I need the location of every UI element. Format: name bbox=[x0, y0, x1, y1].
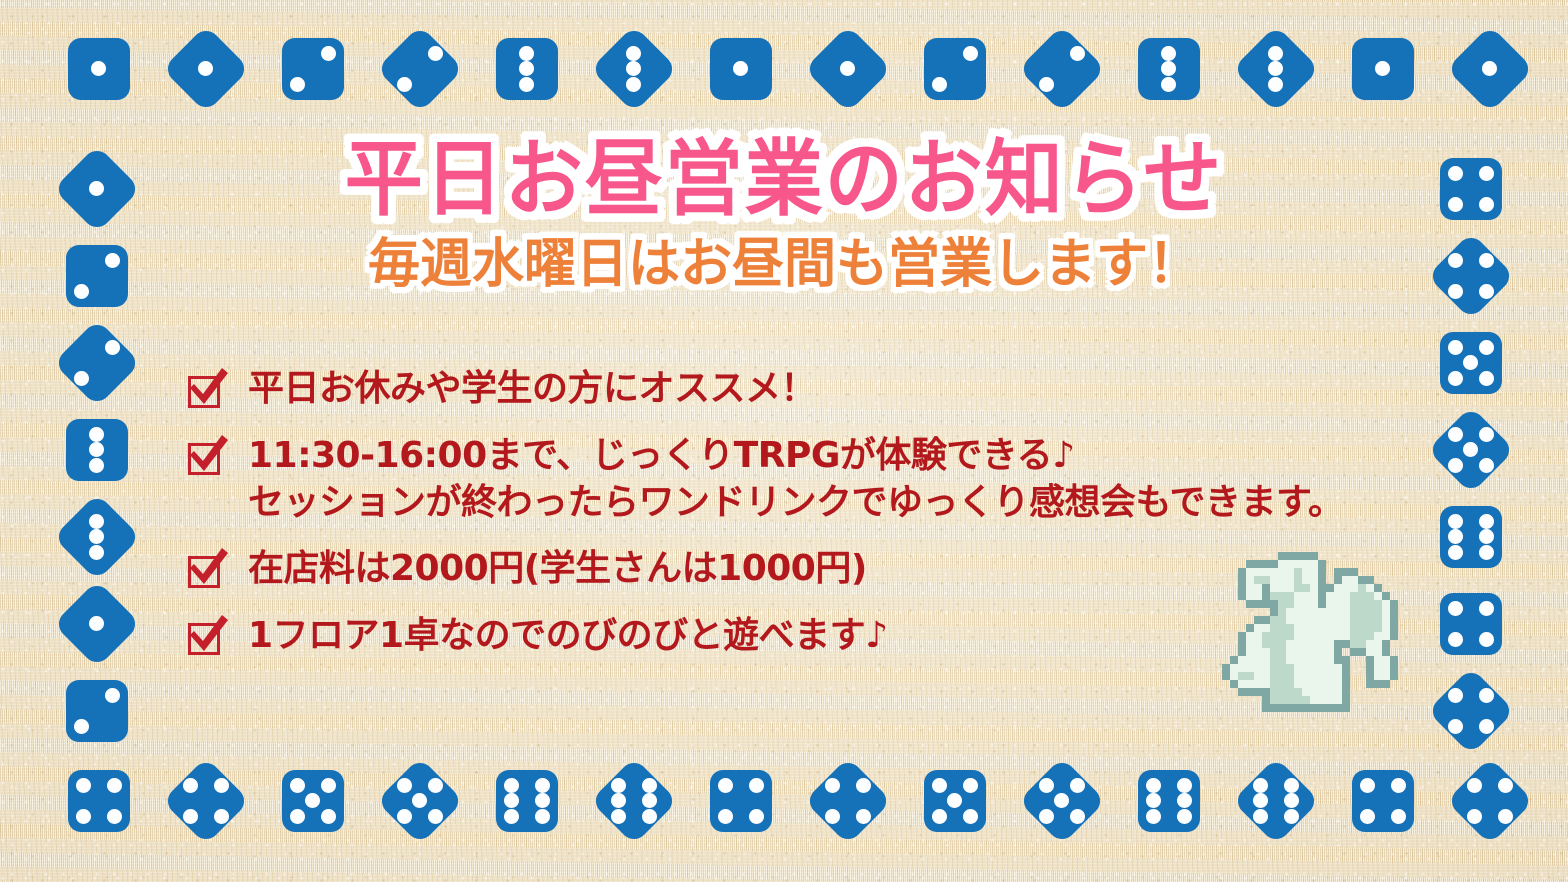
die-4-diamond-icon bbox=[1446, 757, 1534, 845]
die-6-diamond-icon bbox=[590, 757, 678, 845]
die-pips bbox=[710, 38, 772, 100]
die-pips bbox=[66, 419, 128, 481]
die-pips bbox=[817, 770, 879, 832]
checkbox-checked-icon bbox=[186, 439, 228, 479]
die-pip bbox=[825, 809, 840, 824]
die-pips bbox=[389, 38, 451, 100]
die-pips bbox=[603, 38, 665, 100]
die-pips bbox=[282, 38, 344, 100]
die-pip bbox=[535, 809, 550, 824]
die-pip bbox=[932, 809, 947, 824]
die-pips bbox=[1138, 770, 1200, 832]
die-pip bbox=[1448, 340, 1463, 355]
die-pip bbox=[519, 77, 534, 92]
die-pip bbox=[89, 458, 104, 473]
die-pip bbox=[1479, 545, 1494, 560]
die-pips bbox=[1245, 770, 1307, 832]
die-pip bbox=[91, 61, 106, 76]
die-5-diamond-icon bbox=[1018, 757, 1106, 845]
die-3-diamond-icon bbox=[1232, 25, 1320, 113]
die-pips bbox=[1440, 332, 1502, 394]
die-5-square-icon bbox=[282, 770, 344, 832]
die-pip bbox=[749, 778, 764, 793]
die-pips bbox=[66, 245, 128, 307]
die-1-diamond-icon bbox=[53, 145, 141, 233]
die-pip bbox=[89, 616, 104, 631]
die-pip bbox=[1463, 355, 1478, 370]
bullet-line-1: 1フロア1卓なのでのびのびと遊べます♪ bbox=[248, 615, 888, 656]
die-pip bbox=[1448, 545, 1463, 560]
die-1-diamond-icon bbox=[804, 25, 892, 113]
die-pip bbox=[1391, 809, 1406, 824]
check-mark-icon bbox=[184, 366, 232, 414]
die-pip bbox=[428, 46, 443, 61]
die-pip bbox=[1479, 284, 1494, 299]
die-pip bbox=[74, 284, 89, 299]
die-pips bbox=[603, 770, 665, 832]
die-1-diamond-icon bbox=[53, 580, 141, 668]
die-2-diamond-icon bbox=[376, 25, 464, 113]
die-5-square-icon bbox=[1440, 332, 1502, 394]
die-pip bbox=[1479, 166, 1494, 181]
die-pip bbox=[1161, 77, 1176, 92]
bullet-line-2: セッションが終わったらワンドリンクでゆっくり感想会もできます。 bbox=[248, 480, 1343, 527]
die-pip bbox=[626, 77, 641, 92]
die-pip bbox=[1448, 253, 1463, 268]
die-pips bbox=[282, 770, 344, 832]
bullet-line-1: 11:30-16:00まで、じっくりTRPGが体験できる♪ bbox=[248, 435, 1075, 476]
die-pip bbox=[1054, 793, 1069, 808]
die-pip bbox=[504, 793, 519, 808]
die-pip bbox=[1467, 809, 1482, 824]
die-pip bbox=[1284, 809, 1299, 824]
die-pip bbox=[1479, 197, 1494, 212]
die-2-square-icon bbox=[924, 38, 986, 100]
die-4-diamond-icon bbox=[804, 757, 892, 845]
die-pip bbox=[183, 778, 198, 793]
die-pip bbox=[1479, 514, 1494, 529]
die-pip bbox=[89, 442, 104, 457]
die-2-square-icon bbox=[66, 680, 128, 742]
die-pip bbox=[963, 778, 978, 793]
die-pip bbox=[856, 809, 871, 824]
die-4-square-icon bbox=[1440, 593, 1502, 655]
die-pip bbox=[76, 778, 91, 793]
die-pip bbox=[1070, 778, 1085, 793]
die-pip bbox=[1498, 809, 1513, 824]
die-pip bbox=[1479, 371, 1494, 386]
die-pips bbox=[175, 770, 237, 832]
die-pip bbox=[963, 46, 978, 61]
die-pip bbox=[321, 809, 336, 824]
checkbox-checked-icon bbox=[186, 552, 228, 592]
die-pip bbox=[1479, 458, 1494, 473]
bullet-line-1: 平日お休みや学生の方にオススメ！ bbox=[248, 368, 816, 409]
die-pip bbox=[89, 545, 104, 560]
die-pip bbox=[1498, 778, 1513, 793]
die-pips bbox=[710, 770, 772, 832]
die-pips bbox=[1031, 38, 1093, 100]
die-pip bbox=[1284, 778, 1299, 793]
die-4-square-icon bbox=[1352, 770, 1414, 832]
bullet-text: 11:30-16:00まで、じっくりTRPGが体験できる♪セッションが終わったら… bbox=[248, 433, 1343, 527]
die-pip bbox=[1039, 778, 1054, 793]
die-pip bbox=[611, 793, 626, 808]
die-pips bbox=[924, 770, 986, 832]
die-pip bbox=[1360, 809, 1375, 824]
die-1-square-icon bbox=[68, 38, 130, 100]
die-pip bbox=[1039, 77, 1054, 92]
die-pip bbox=[1448, 688, 1463, 703]
die-pip bbox=[1448, 514, 1463, 529]
die-pips bbox=[496, 770, 558, 832]
die-pip bbox=[642, 793, 657, 808]
die-pip bbox=[1448, 458, 1463, 473]
die-pip bbox=[105, 688, 120, 703]
die-pip bbox=[1039, 809, 1054, 824]
die-5-square-icon bbox=[924, 770, 986, 832]
die-pip bbox=[89, 427, 104, 442]
die-pip bbox=[504, 778, 519, 793]
die-1-diamond-icon bbox=[1446, 25, 1534, 113]
die-pip bbox=[397, 809, 412, 824]
die-pip bbox=[1161, 61, 1176, 76]
die-pip bbox=[290, 77, 305, 92]
die-pips bbox=[1245, 38, 1307, 100]
die-pips bbox=[68, 38, 130, 100]
die-1-square-icon bbox=[710, 38, 772, 100]
die-pip bbox=[1448, 371, 1463, 386]
die-pip bbox=[1177, 793, 1192, 808]
die-pip bbox=[611, 809, 626, 824]
die-pip bbox=[963, 809, 978, 824]
die-pips bbox=[1440, 158, 1502, 220]
die-pip bbox=[1161, 46, 1176, 61]
die-pip bbox=[105, 253, 120, 268]
die-pip bbox=[1448, 529, 1463, 544]
die-pips bbox=[1459, 770, 1521, 832]
die-pip bbox=[107, 809, 122, 824]
die-pip bbox=[1360, 778, 1375, 793]
die-5-diamond-icon bbox=[376, 757, 464, 845]
die-pip bbox=[856, 778, 871, 793]
die-pip bbox=[1146, 809, 1161, 824]
poster-canvas: 平日お昼営業のお知らせ 毎週水曜日はお昼間も営業します！ 平日お休みや学生の方に… bbox=[0, 0, 1568, 882]
die-pips bbox=[66, 158, 128, 220]
checkbox-checked-icon bbox=[186, 372, 228, 412]
die-pip bbox=[504, 809, 519, 824]
die-pip bbox=[214, 778, 229, 793]
die-pip bbox=[840, 61, 855, 76]
die-pip bbox=[412, 793, 427, 808]
die-pip bbox=[76, 809, 91, 824]
check-mark-icon bbox=[184, 613, 232, 661]
die-pip bbox=[1268, 61, 1283, 76]
die-pip bbox=[626, 61, 641, 76]
die-2-diamond-icon bbox=[1018, 25, 1106, 113]
die-pip bbox=[642, 778, 657, 793]
die-pips bbox=[1459, 38, 1521, 100]
die-pip bbox=[535, 778, 550, 793]
die-pips bbox=[66, 593, 128, 655]
die-pip bbox=[749, 809, 764, 824]
bullet-text: 在店料は2000円(学生さんは1000円) bbox=[248, 546, 867, 593]
die-pips bbox=[817, 38, 879, 100]
die-pips bbox=[175, 38, 237, 100]
die-3-square-icon bbox=[1138, 38, 1200, 100]
die-pip bbox=[1177, 778, 1192, 793]
die-pip bbox=[642, 809, 657, 824]
die-5-diamond-icon bbox=[1427, 406, 1515, 494]
die-pip bbox=[932, 778, 947, 793]
die-pip bbox=[1479, 340, 1494, 355]
die-pip bbox=[825, 778, 840, 793]
die-3-diamond-icon bbox=[590, 25, 678, 113]
die-pip bbox=[1253, 778, 1268, 793]
die-pip bbox=[1448, 197, 1463, 212]
die-pip bbox=[74, 719, 89, 734]
die-6-square-icon bbox=[1138, 770, 1200, 832]
bullet-line-1: 在店料は2000円(学生さんは1000円) bbox=[248, 548, 867, 589]
die-pip bbox=[626, 46, 641, 61]
die-pip bbox=[105, 340, 120, 355]
die-pip bbox=[932, 77, 947, 92]
die-pip bbox=[1391, 778, 1406, 793]
die-pip bbox=[1448, 632, 1463, 647]
bullet-text: 平日お休みや学生の方にオススメ！ bbox=[248, 366, 816, 413]
die-pip bbox=[107, 778, 122, 793]
die-pip bbox=[1448, 427, 1463, 442]
checkbox-checked-icon bbox=[186, 619, 228, 659]
die-1-square-icon bbox=[1352, 38, 1414, 100]
die-pip bbox=[1482, 61, 1497, 76]
die-pips bbox=[1440, 593, 1502, 655]
die-pip bbox=[89, 529, 104, 544]
bullet-item: 平日お休みや学生の方にオススメ！ bbox=[186, 366, 1416, 413]
pixel-dragon-icon bbox=[1222, 552, 1398, 720]
die-pips bbox=[66, 680, 128, 742]
die-pips bbox=[68, 770, 130, 832]
die-pips bbox=[1138, 38, 1200, 100]
die-4-diamond-icon bbox=[1427, 667, 1515, 755]
die-pip bbox=[1479, 632, 1494, 647]
die-4-square-icon bbox=[1440, 158, 1502, 220]
die-4-diamond-icon bbox=[1427, 232, 1515, 320]
die-pip bbox=[519, 61, 534, 76]
die-1-diamond-icon bbox=[162, 25, 250, 113]
die-pips bbox=[1031, 770, 1093, 832]
die-pips bbox=[924, 38, 986, 100]
die-pip bbox=[1479, 601, 1494, 616]
die-pip bbox=[1448, 166, 1463, 181]
die-4-square-icon bbox=[710, 770, 772, 832]
die-pip bbox=[1284, 793, 1299, 808]
die-pip bbox=[1268, 46, 1283, 61]
die-pip bbox=[1375, 61, 1390, 76]
die-2-square-icon bbox=[282, 38, 344, 100]
die-pips bbox=[496, 38, 558, 100]
die-pip bbox=[1253, 793, 1268, 808]
die-pip bbox=[1448, 719, 1463, 734]
die-pip bbox=[214, 809, 229, 824]
die-pip bbox=[1070, 809, 1085, 824]
check-mark-icon bbox=[184, 433, 232, 481]
die-pips bbox=[1440, 680, 1502, 742]
die-pip bbox=[1268, 77, 1283, 92]
die-pips bbox=[1440, 419, 1502, 481]
die-pip bbox=[733, 61, 748, 76]
die-pips bbox=[1352, 38, 1414, 100]
die-pip bbox=[397, 77, 412, 92]
die-pip bbox=[718, 778, 733, 793]
die-pip bbox=[519, 46, 534, 61]
die-pips bbox=[1352, 770, 1414, 832]
die-pip bbox=[198, 61, 213, 76]
die-pip bbox=[183, 809, 198, 824]
die-4-square-icon bbox=[68, 770, 130, 832]
die-pip bbox=[428, 809, 443, 824]
die-6-square-icon bbox=[496, 770, 558, 832]
die-pips bbox=[66, 506, 128, 568]
die-pip bbox=[1448, 601, 1463, 616]
die-pip bbox=[1448, 284, 1463, 299]
die-pip bbox=[305, 793, 320, 808]
die-pip bbox=[611, 778, 626, 793]
die-3-diamond-icon bbox=[53, 493, 141, 581]
bullet-item: 11:30-16:00まで、じっくりTRPGが体験できる♪セッションが終わったら… bbox=[186, 433, 1416, 527]
die-pip bbox=[89, 181, 104, 196]
die-pip bbox=[1146, 778, 1161, 793]
die-pip bbox=[535, 793, 550, 808]
die-4-diamond-icon bbox=[162, 757, 250, 845]
die-2-diamond-icon bbox=[53, 319, 141, 407]
die-pip bbox=[428, 778, 443, 793]
die-pip bbox=[1146, 793, 1161, 808]
die-pips bbox=[1440, 245, 1502, 307]
die-pip bbox=[1479, 253, 1494, 268]
die-pip bbox=[321, 46, 336, 61]
die-pip bbox=[1479, 688, 1494, 703]
die-pip bbox=[89, 514, 104, 529]
die-6-square-icon bbox=[1440, 506, 1502, 568]
die-pip bbox=[397, 778, 412, 793]
die-pip bbox=[74, 371, 89, 386]
check-mark-icon bbox=[184, 546, 232, 594]
die-pip bbox=[290, 778, 305, 793]
die-pip bbox=[947, 793, 962, 808]
die-pip bbox=[1479, 427, 1494, 442]
die-pip bbox=[1253, 809, 1268, 824]
die-pips bbox=[389, 770, 451, 832]
die-3-square-icon bbox=[496, 38, 558, 100]
die-6-diamond-icon bbox=[1232, 757, 1320, 845]
die-pip bbox=[1070, 46, 1085, 61]
die-pip bbox=[1479, 719, 1494, 734]
die-2-square-icon bbox=[66, 245, 128, 307]
die-3-square-icon bbox=[66, 419, 128, 481]
bullet-text: 1フロア1卓なのでのびのびと遊べます♪ bbox=[248, 613, 888, 660]
die-pip bbox=[1177, 809, 1192, 824]
die-pips bbox=[66, 332, 128, 394]
die-pip bbox=[1467, 778, 1482, 793]
die-pip bbox=[718, 809, 733, 824]
die-pip bbox=[321, 778, 336, 793]
die-pip bbox=[1479, 529, 1494, 544]
die-pip bbox=[1463, 442, 1478, 457]
die-pip bbox=[290, 809, 305, 824]
die-pips bbox=[1440, 506, 1502, 568]
